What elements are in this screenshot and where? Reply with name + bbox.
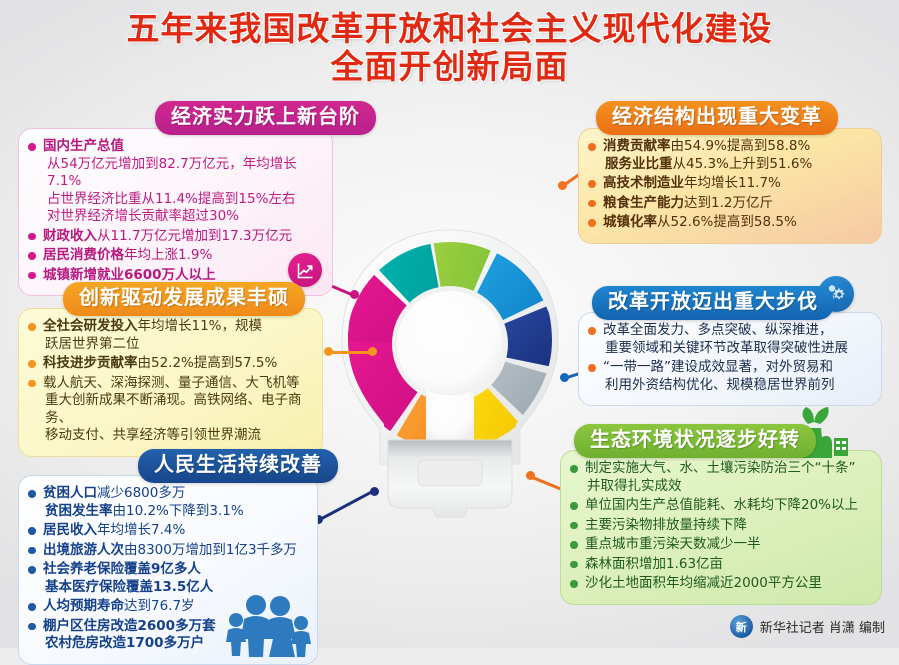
panel-body-economy-structure: 消费贡献率由54.9%提高到58.8% 服务业比重从45.3%上升到51.6% …: [578, 128, 882, 244]
item-tail: 重点城市重污染天数减少一半: [585, 536, 761, 552]
list-item: 粮食生产能力达到1.2万亿斤: [588, 195, 871, 213]
list-item: 财政收入从11.7万亿元增加到17.3万亿元: [28, 228, 322, 246]
panel-body-people-life: 贫困人口减少6800多万 贫困发生率由10.2%下降到3.1% 居民收入年均增长…: [18, 475, 318, 665]
item-tail: 年均增长7.4%: [97, 522, 185, 538]
list-item: 消费贡献率由54.9%提高到58.8% 服务业比重从45.3%上升到51.6%: [588, 138, 871, 173]
panel-heading-people-life: 人民生活持续改善: [138, 449, 338, 483]
connector-dot: [350, 290, 359, 299]
list-item: 森林面积增加1.63亿亩: [570, 556, 871, 574]
panel-heading-economy-structure: 经济结构出现重大变革: [596, 101, 838, 135]
item-tail: 年均增长11%，规模: [138, 318, 263, 334]
item-lead: 贫困发生率: [45, 503, 113, 519]
item-tail: 单位国内生产总值能耗、水耗均下降20%以上: [585, 497, 858, 513]
item-lead: 粮食生产能力: [603, 195, 684, 211]
panel-people-life: 人民生活持续改善 贫困人口减少6800多万 贫困发生率由10.2%下降到3.1%…: [18, 475, 318, 665]
item-sub: 移动支付、共享经济等引领世界潮流: [43, 427, 312, 445]
panel-body-innovation: 全社会研发投入年均增长11%，规模 跃居世界第二位 科技进步贡献率由52.2%提…: [18, 308, 323, 457]
item-lead: 人均预期寿命: [43, 598, 124, 614]
item-tail: 从45.3%上升到51.6%: [673, 156, 813, 172]
family-icon: [219, 595, 311, 662]
item-lead: 城镇化率: [603, 214, 657, 230]
list-innovation: 全社会研发投入年均增长11%，规模 跃居世界第二位 科技进步贡献率由52.2%提…: [28, 318, 312, 445]
item-tail: 沙化土地面积年均缩减近2000平方公里: [585, 575, 822, 591]
panel-body-ecology: 制定实施大气、水、土壤污染防治三个“十条” 并取得扎实成效 单位国内生产总值能耗…: [560, 450, 882, 605]
item-lead: 消费贡献率: [603, 138, 671, 154]
connector-dot: [558, 181, 567, 190]
item-lead: 服务业比重: [605, 156, 673, 172]
item-sub: 重要领域和关键环节改革取得突破性进展: [603, 340, 871, 358]
list-item: 沙化土地面积年均缩减近2000平方公里: [570, 575, 871, 593]
item-sub: 重大创新成果不断涌现。高铁网络、电子商务、: [43, 392, 312, 427]
list-economy-strength: 国内生产总值 从54万亿元增加到82.7万亿元，年均增长7.1% 占世界经济比重…: [28, 138, 322, 284]
item-lead: 城镇新增就业6600万人以上: [43, 267, 216, 283]
list-item: 城镇化率从52.6%提高到58.5%: [588, 214, 871, 232]
credit-line: 新 新华社记者 肖潇 编制: [730, 615, 885, 638]
xinhua-logo-icon: 新: [730, 615, 753, 638]
list-item: 全社会研发投入年均增长11%，规模 跃居世界第二位: [28, 318, 312, 353]
item-tail: 主要污染物排放量持续下降: [585, 517, 747, 533]
panel-heading-reform: 改革开放迈出重大步伐: [592, 286, 834, 320]
item-tail: 从11.7万亿元增加到17.3万亿元: [97, 228, 292, 244]
list-item: 载人航天、深海探测、量子通信、大飞机等 重大创新成果不断涌现。高铁网络、电子商务…: [28, 375, 312, 445]
item-tail: 载人航天、深海探测、量子通信、大飞机等: [43, 375, 300, 391]
item-tail: 达到1.2万亿斤: [684, 195, 773, 211]
item-lead: 社会养老保险覆盖9亿多人: [43, 561, 201, 577]
item-lead: 全社会研发投入: [43, 318, 138, 334]
item-lead: 财政收入: [43, 228, 97, 244]
list-item: 重点城市重污染天数减少一半: [570, 536, 871, 554]
panel-economy-structure: 经济结构出现重大变革 消费贡献率由54.9%提高到58.8% 服务业比重从45.…: [578, 128, 882, 244]
item-lead: 棚户区住房改造2600多万套: [43, 618, 216, 634]
item-lead: 出境旅游人次: [43, 542, 124, 558]
item-lead: 科技进步贡献率: [43, 355, 138, 371]
connector-dot: [370, 487, 379, 496]
item-lead: 居民收入: [43, 522, 97, 538]
item-sub: 跃居世界第二位: [43, 336, 312, 354]
item-tail: 减少6800多万: [97, 485, 185, 501]
item-tail: 改革全面发力、多点突破、纵深推进，: [603, 322, 833, 338]
panel-economy-strength: 经济实力跃上新台阶 国内生产总值 从54万亿元增加到82.7万亿元，年均增长7.…: [18, 128, 333, 296]
list-item: 单位国内生产总值能耗、水耗均下降20%以上: [570, 497, 871, 515]
panel-body-reform: 改革全面发力、多点突破、纵深推进， 重要领域和关键环节改革取得突破性进展 “一带…: [578, 312, 882, 406]
item-tail: 由8300万增加到1亿3千多万: [124, 542, 297, 558]
list-item: 居民收入年均增长7.4%: [28, 522, 307, 540]
item-lead: 国内生产总值: [43, 138, 124, 154]
bulb-glass: [397, 291, 503, 397]
item-tail: 由52.2%提高到57.5%: [138, 355, 278, 371]
connector-dot: [560, 373, 569, 382]
list-ecology: 制定实施大气、水、土壤污染防治三个“十条” 并取得扎实成效 单位国内生产总值能耗…: [570, 460, 871, 593]
credit-text: 新华社记者 肖潇 编制: [760, 617, 885, 636]
list-item: 高技术制造业年均增长11.7%: [588, 175, 871, 193]
panel-heading-economy-strength: 经济实力跃上新台阶: [155, 101, 376, 135]
list-item: 社会养老保险覆盖9亿多人 基本医疗保险覆盖13.5亿人: [28, 561, 307, 596]
list-economy-structure: 消费贡献率由54.9%提高到58.8% 服务业比重从45.3%上升到51.6% …: [588, 138, 871, 232]
panel-heading-ecology: 生态环境状况逐步好转: [574, 424, 816, 458]
panel-reform: 改革开放迈出重大步伐 改革全面发力、多点突破、纵深推进， 重要领域和关键环节改革…: [578, 312, 882, 406]
item-tail: 从52.6%提高到58.5%: [657, 214, 797, 230]
panel-innovation: 创新驱动发展成果丰硕 全社会研发投入年均增长11%，规模 跃居世界第二位 科技进…: [18, 308, 323, 457]
item-tail: 年均上涨1.9%: [124, 247, 212, 263]
title-line-2: 全面开创新局面: [0, 48, 899, 86]
connector-dot: [368, 347, 377, 356]
list-reform: 改革全面发力、多点突破、纵深推进， 重要领域和关键环节改革取得突破性进展 “一带…: [588, 322, 871, 394]
bulb-base-band: [418, 460, 482, 486]
item-tail: 年均增长11.7%: [684, 175, 781, 191]
item-tail: 达到76.7岁: [124, 598, 195, 614]
list-item: 科技进步贡献率由52.2%提高到57.5%: [28, 355, 312, 373]
item-tail: 森林面积增加1.63亿亩: [585, 556, 723, 572]
list-item: 居民消费价格年均上涨1.9%: [28, 247, 322, 265]
item-lead: 贫困人口: [43, 485, 97, 501]
connector-dot: [324, 347, 333, 356]
list-item: 国内生产总值 从54万亿元增加到82.7万亿元，年均增长7.1% 占世界经济比重…: [28, 138, 322, 226]
item-sub: 并取得扎实成效: [585, 478, 871, 496]
page-title: 五年来我国改革开放和社会主义现代化建设 全面开创新局面: [0, 10, 899, 86]
item-sub: 贫困发生率由10.2%下降到3.1%: [43, 503, 307, 521]
list-item: 主要污染物排放量持续下降: [570, 517, 871, 535]
item-sub: 对世界经济增长贡献率超过30%: [43, 208, 322, 226]
connector-dot: [526, 471, 535, 480]
list-item: 贫困人口减少6800多万 贫困发生率由10.2%下降到3.1%: [28, 485, 307, 520]
item-sub: 利用外资结构优化、规模稳居世界前列: [603, 377, 871, 395]
item-sub: 基本医疗保险覆盖13.5亿人: [43, 579, 307, 597]
infographic-root: 五年来我国改革开放和社会主义现代化建设 全面开创新局面: [0, 0, 899, 648]
panel-heading-innovation: 创新驱动发展成果丰硕: [63, 282, 305, 316]
item-sub: 服务业比重从45.3%上升到51.6%: [603, 156, 871, 174]
title-line-1: 五年来我国改革开放和社会主义现代化建设: [0, 10, 899, 48]
list-item: 改革全面发力、多点突破、纵深推进， 重要领域和关键环节改革取得突破性进展: [588, 322, 871, 357]
panel-ecology: 生态环境状况逐步好转 制定实施大气、水、土壤污染防治三个“十条” 并取得扎实成效…: [560, 450, 882, 605]
item-sub: 从54万亿元增加到82.7万亿元，年均增长7.1%: [43, 156, 322, 191]
bulb-neck: [426, 390, 474, 442]
item-lead: 居民消费价格: [43, 247, 124, 263]
panel-body-economy-strength: 国内生产总值 从54万亿元增加到82.7万亿元，年均增长7.1% 占世界经济比重…: [18, 128, 333, 296]
list-item: “一带一路”建设成效显著，对外贸易和 利用外资结构优化、规模稳居世界前列: [588, 359, 871, 394]
item-tail: 由10.2%下降到3.1%: [113, 503, 244, 519]
item-tail: “一带一路”建设成效显著，对外贸易和: [603, 359, 833, 375]
item-tail: 由54.9%提高到58.8%: [671, 138, 811, 154]
list-item: 出境旅游人次由8300万增加到1亿3千多万: [28, 542, 307, 560]
item-sub: 占世界经济比重从11.4%提高到15%左右: [43, 191, 322, 209]
item-lead: 高技术制造业: [603, 175, 684, 191]
